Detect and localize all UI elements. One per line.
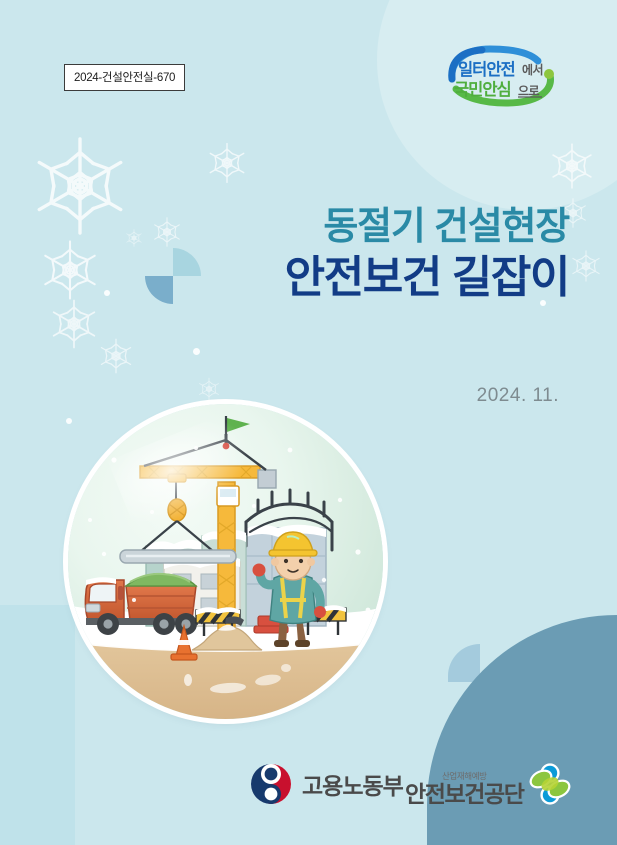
svg-text:에서: 에서 <box>522 62 543 77</box>
background-shape-bottom-left <box>0 605 75 845</box>
ministry-name: 고용노동부 <box>302 767 403 801</box>
svg-text:일터안전: 일터안전 <box>458 60 515 79</box>
background-shape-accent <box>448 644 480 682</box>
snowflake-icon-10 <box>196 376 222 402</box>
svg-text:국민안심: 국민안심 <box>454 80 511 99</box>
slogan-logo-graphic: 일터안전 에서 국민안심 으로 <box>442 45 562 107</box>
construction-site-graphic <box>68 404 383 719</box>
publication-date: 2024. 11. <box>477 385 559 407</box>
taeguk-icon <box>250 763 292 805</box>
snowflake-icon-6 <box>46 296 102 352</box>
kosha-logo: 산업재해예방 안전보건공단 <box>405 758 572 806</box>
snowflake-icon-1 <box>204 140 250 186</box>
title-line-1: 동절기 건설현장 <box>285 205 569 250</box>
registration-number-text: 2024-건설안전실-670 <box>74 72 175 84</box>
registration-number-box: 2024-건설안전실-670 <box>64 64 185 91</box>
snow-globe-illustration <box>68 404 383 719</box>
kosha-wordmark: 산업재해예방 안전보건공단 <box>405 770 524 806</box>
kosha-pinwheel-icon <box>528 762 572 806</box>
snowflake-icon-4 <box>150 215 184 249</box>
background-quarter-steel-bottom-right <box>427 615 617 845</box>
ministry-of-employment-and-labor-logo: 고용노동부 <box>250 762 403 806</box>
snowflake-icon-0 <box>24 130 136 242</box>
snowflake-icon-5 <box>124 228 144 248</box>
kosha-name: 안전보건공단 <box>405 783 524 806</box>
snowflake-icon-3 <box>36 236 104 304</box>
pinwheel-quarter-dark <box>145 276 173 304</box>
snow-dot-1 <box>193 348 200 355</box>
snowflake-icon-2 <box>546 140 598 192</box>
document-cover: 2024-건설안전실-670 일터안전 에서 국민안심 으로 동절기 건설현장 … <box>0 0 617 845</box>
snow-dot-0 <box>104 290 110 296</box>
title-line-2: 안전보건 길잡이 <box>285 252 569 305</box>
illustration-scene <box>68 404 383 719</box>
snowflake-icon-7 <box>96 336 136 376</box>
pinwheel-accent-shape <box>145 248 201 304</box>
snowflake-icon-9 <box>568 248 604 284</box>
page-title: 동절기 건설현장 안전보건 길잡이 <box>285 205 569 305</box>
svg-text:으로: 으로 <box>518 84 539 98</box>
pinwheel-quarter-light <box>173 248 201 276</box>
slogan-logo: 일터안전 에서 국민안심 으로 <box>442 45 562 107</box>
